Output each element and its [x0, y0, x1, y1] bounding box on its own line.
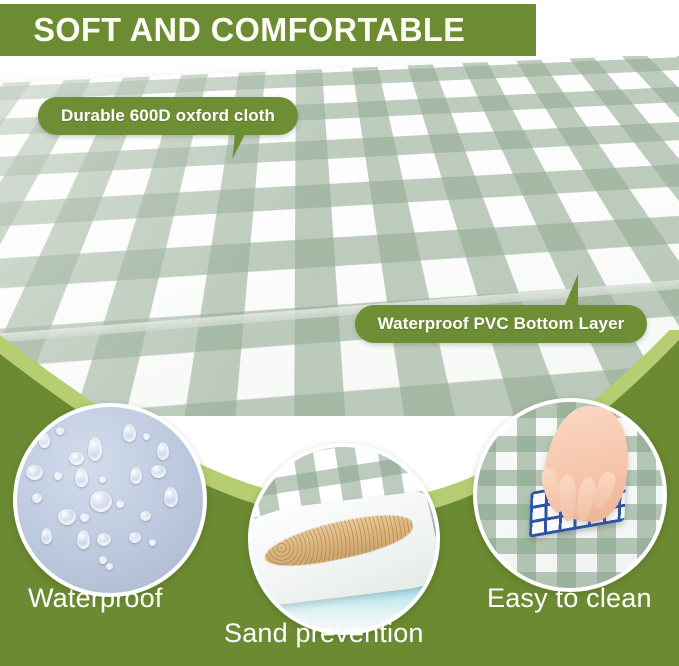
- infographic-root: SOFT AND COMFORTABLE Durable 600D oxford…: [0, 0, 679, 666]
- water-drop-icon: [164, 487, 178, 507]
- water-drop-icon: [99, 476, 106, 483]
- water-drop-icon: [129, 532, 141, 543]
- feature-label-sand-prevention: Sand prevention: [224, 618, 424, 649]
- water-drop-icon: [123, 424, 136, 442]
- water-drop-icon: [157, 442, 169, 460]
- finger: [559, 475, 576, 521]
- callout-tail-up-icon: [557, 274, 578, 307]
- water-drop-icon: [149, 539, 156, 546]
- callout-tail-down-icon: [232, 127, 256, 159]
- feature-image-sand-prevention: [248, 443, 440, 635]
- feature-image-waterproof: [13, 403, 207, 597]
- callout-durable-oxford-label: Durable 600D oxford cloth: [61, 106, 275, 126]
- water-drop-icon: [130, 467, 142, 484]
- water-drop-icon: [80, 513, 89, 522]
- water-drop-icon: [97, 533, 111, 546]
- feature-label-waterproof: Waterproof: [28, 583, 163, 614]
- water-drop-icon: [90, 491, 112, 512]
- feature-image-easy-to-clean: [473, 398, 667, 592]
- water-drop-icon: [69, 452, 84, 465]
- water-drop-icon: [75, 468, 88, 487]
- water-drop-icon: [56, 427, 64, 435]
- water-drop-icon: [151, 465, 166, 478]
- page-title: SOFT AND COMFORTABLE: [0, 11, 465, 49]
- header-banner: SOFT AND COMFORTABLE: [0, 4, 536, 56]
- water-drop-icon: [143, 433, 150, 440]
- water-drop-icon: [58, 509, 76, 525]
- water-drop-icon: [32, 493, 42, 503]
- water-drop-icon: [39, 433, 50, 448]
- water-drop-icon: [41, 528, 52, 544]
- water-drop-icon: [106, 563, 113, 570]
- feature-label-easy-to-clean: Easy to clean: [487, 583, 652, 614]
- water-drop-icon: [88, 437, 102, 461]
- water-drop-icon: [99, 556, 107, 564]
- water-drop-icon: [26, 465, 43, 480]
- water-drop-icon: [77, 530, 90, 549]
- water-drop-icon: [54, 472, 62, 480]
- water-drop-icon: [140, 511, 151, 521]
- callout-durable-oxford: Durable 600D oxford cloth: [38, 97, 298, 135]
- water-drop-icon: [116, 500, 124, 508]
